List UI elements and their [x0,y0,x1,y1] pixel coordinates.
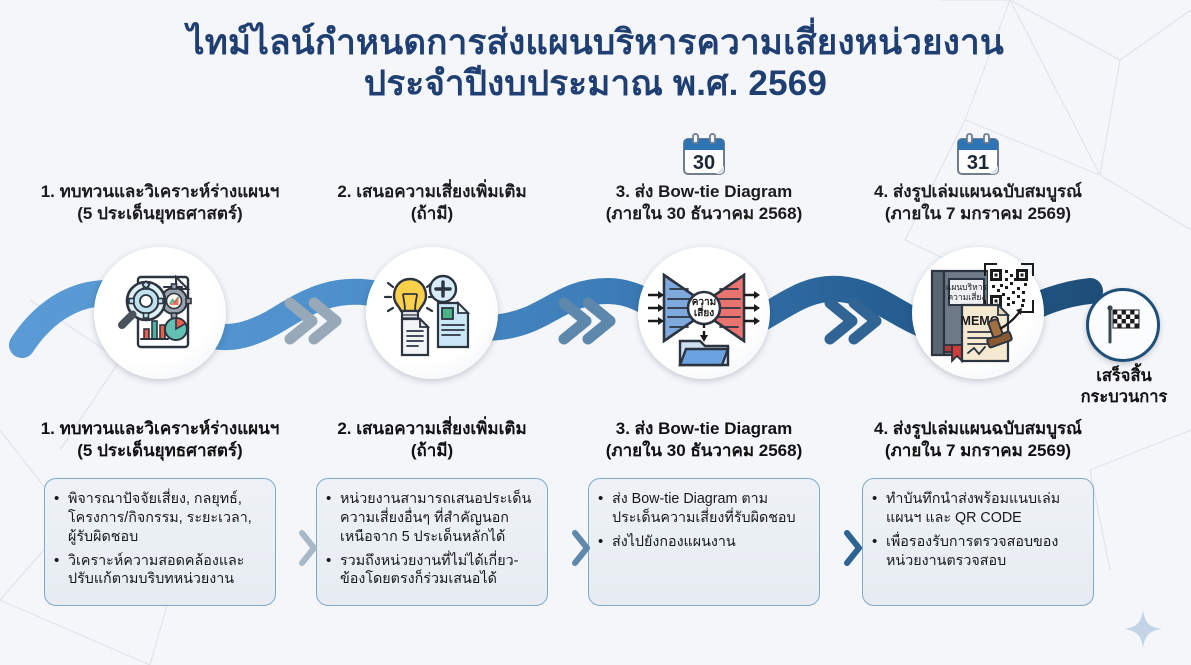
step-3-bottom-sub: (ภายใน 30 ธันวาคม 2568) [566,440,842,462]
step-3-top-title: 3. ส่ง Bow-tie Diagram [566,181,842,203]
sparkle-decoration-icon [1120,606,1166,652]
book-title-line2: ความเสี่ยง [947,291,985,302]
step-4-bottom-title: 4. ส่งรูปเล่มแผนฉบับสมบูรณ์ [840,418,1116,440]
calendar-day-number: 31 [967,152,989,174]
list-item: วิเคราะห์ความสอดคล้องและปรับแก้ตามบริบทห… [53,552,265,590]
step-4-top-label: 4. ส่งรูปเล่มแผนฉบับสมบูรณ์ (ภายใน 7 มกร… [840,181,1116,225]
list-item: ส่งไปยังกองแผนงาน [597,533,809,552]
bowtie-diagram-folder-icon: ความ เสี่ยง [648,257,760,369]
step-2-bottom-label: 2. เสนอความเสี่ยงเพิ่มเติม (ถ้ามี) [294,418,570,462]
list-item: ส่ง Bow-tie Diagram ตามประเด็นความเสี่ยง… [597,490,809,528]
step-2-top-label: 2. เสนอความเสี่ยงเพิ่มเติม (ถ้ามี) [294,181,570,225]
ribbon-chevron-2-icon [556,295,618,347]
step-3-detail-box: ส่ง Bow-tie Diagram ตามประเด็นความเสี่ยง… [588,478,820,606]
box-chevron-2-icon [568,528,594,568]
list-item: พิจารณาปัจจัยเสี่ยง, กลยุทธ์, โครงการ/กิ… [53,490,265,547]
box-chevron-3-icon [840,528,866,568]
page-title: ไทม์ไลน์กำหนดการส่งแผนบริหารความเสี่ยงหน… [0,22,1191,105]
step-3-bottom-title: 3. ส่ง Bow-tie Diagram [566,418,842,440]
step-4-bottom-sub: (ภายใน 7 มกราคม 2569) [840,440,1116,462]
lightbulb-add-document-icon [380,261,484,365]
ribbon-chevron-1-icon [282,295,344,347]
step-2-top-title: 2. เสนอความเสี่ยงเพิ่มเติม [294,181,570,203]
step-4-detail-box: ทำบันทึกนำส่งพร้อมแนบเล่มแผนฯ และ QR COD… [862,478,1094,606]
list-item: เพื่อรองรับการตรวจสอบของหน่วยงานตรวจสอบ [871,533,1083,571]
step-1-bottom-title: 1. ทบทวนและวิเคราะห์ร่างแผนฯ [22,418,298,440]
step-3-top-sub: (ภายใน 30 ธันวาคม 2568) [566,203,842,225]
book-title-line1: แผนบริหาร [946,282,988,292]
step-1-top-title: 1. ทบทวนและวิเคราะห์ร่างแผนฯ [22,181,298,203]
document-analysis-icon [108,261,212,365]
step-3-top-label: 3. ส่ง Bow-tie Diagram (ภายใน 30 ธันวาคม… [566,181,842,225]
list-item: หน่วยงานสามารถเสนอประเด็นความเสี่ยงอื่นๆ… [325,490,537,547]
checkered-flag-icon [1100,302,1146,348]
finish-label-line1: เสร็จสิ้น [1058,366,1190,387]
step-2-bottom-title: 2. เสนอความเสี่ยงเพิ่มเติม [294,418,570,440]
step-2-bottom-sub: (ถ้ามี) [294,440,570,462]
step-4-bottom-label: 4. ส่งรูปเล่มแผนฉบับสมบูรณ์ (ภายใน 7 มกร… [840,418,1116,462]
calendar-30-icon: 30 [681,132,727,178]
bowtie-center-label-1: ความ [692,297,717,308]
list-item: ทำบันทึกนำส่งพร้อมแนบเล่มแผนฯ และ QR COD… [871,490,1083,528]
ribbon-chevron-3-icon [822,295,884,347]
step-1-top-sub: (5 ประเด็นยุทธศาสตร์) [22,203,298,225]
calendar-day-number: 30 [693,152,715,174]
calendar-31-icon: 31 [955,132,1001,178]
step-4-top-sub: (ภายใน 7 มกราคม 2569) [840,203,1116,225]
bowtie-center-label-2: เสี่ยง [694,305,714,319]
page-title-line1: ไทม์ไลน์กำหนดการส่งแผนบริหารความเสี่ยงหน… [0,22,1191,63]
step-1-detail-box: พิจารณาปัจจัยเสี่ยง, กลยุทธ์, โครงการ/กิ… [44,478,276,606]
finish-label-line2: กระบวนการ [1058,387,1190,408]
step-1-bottom-sub: (5 ประเด็นยุทธศาสตร์) [22,440,298,462]
page-title-line2: ประจำปีงบประมาณ พ.ศ. 2569 [0,63,1191,104]
step-2-icon-node[interactable] [366,247,498,379]
step-1-icon-node[interactable] [94,247,226,379]
step-1-bottom-label: 1. ทบทวนและวิเคราะห์ร่างแผนฯ (5 ประเด็นย… [22,418,298,462]
step-2-top-sub: (ถ้ามี) [294,203,570,225]
finish-node[interactable] [1086,288,1160,362]
box-chevron-1-icon [295,528,321,568]
step-4-top-title: 4. ส่งรูปเล่มแผนฉบับสมบูรณ์ [840,181,1116,203]
finish-label: เสร็จสิ้น กระบวนการ [1058,366,1190,407]
step-2-detail-box: หน่วยงานสามารถเสนอประเด็นความเสี่ยงอื่นๆ… [316,478,548,606]
step-1-top-label: 1. ทบทวนและวิเคราะห์ร่างแผนฯ (5 ประเด็นย… [22,181,298,225]
step-3-bottom-label: 3. ส่ง Bow-tie Diagram (ภายใน 30 ธันวาคม… [566,418,842,462]
list-item: รวมถึงหน่วยงานที่ไม่ได้เกี่ยว-ข้องโดยตรง… [325,552,537,590]
step-3-icon-node[interactable]: ความ เสี่ยง [638,247,770,379]
book-memo-qrcode-icon: แผนบริหาร ความเสี่ยง [922,257,1034,369]
step-4-icon-node[interactable]: แผนบริหาร ความเสี่ยง [912,247,1044,379]
